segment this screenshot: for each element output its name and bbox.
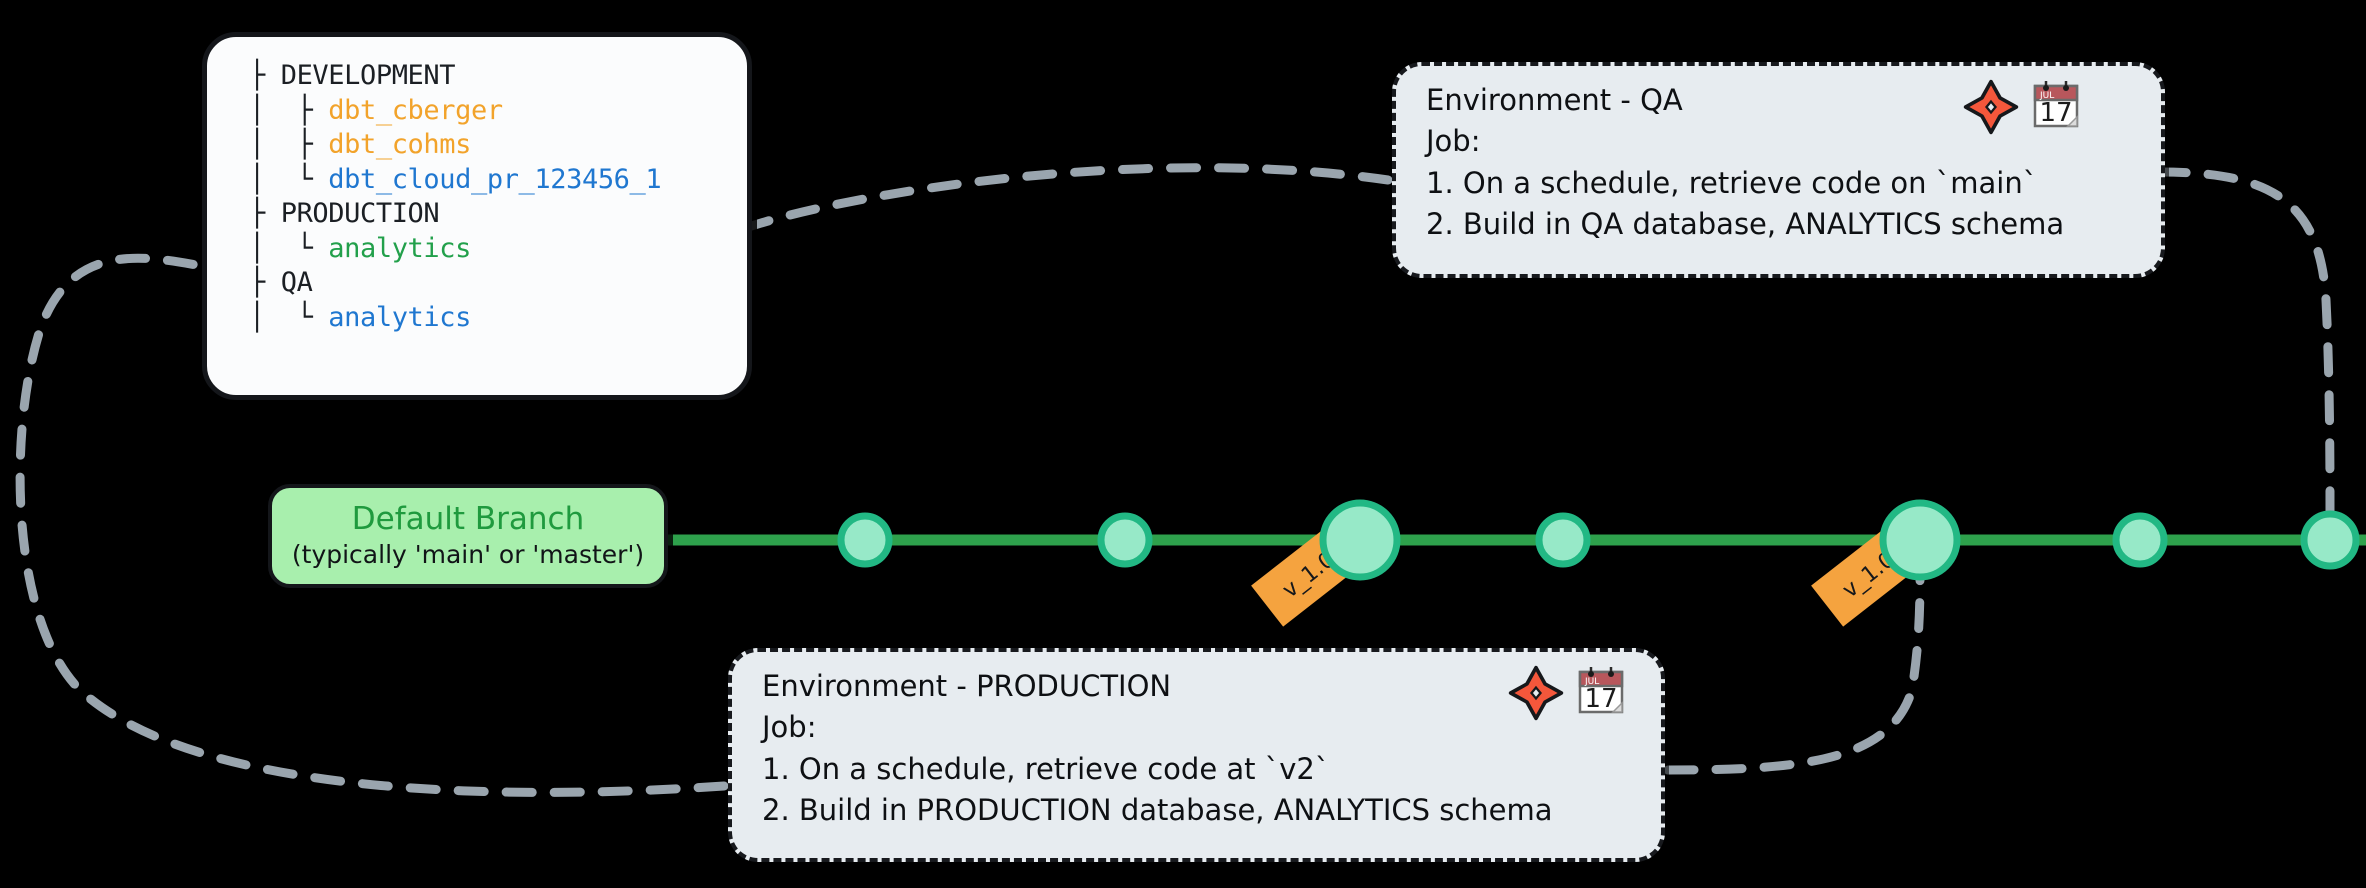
tree-line-list: ├ DEVELOPMENT│ ├ dbt_cberger│ ├ dbt_cohm… bbox=[207, 59, 747, 335]
git-commit-node[interactable] bbox=[841, 516, 889, 564]
tree-node-label: QA bbox=[281, 267, 313, 298]
tree-node-label: dbt_cloud_pr_123456_1 bbox=[328, 164, 661, 195]
calendar-icon: JUL 17 bbox=[1577, 664, 1625, 716]
tree-node-label: analytics bbox=[328, 233, 471, 264]
tree-node-label: dbt_cberger bbox=[328, 95, 502, 126]
tree-branch-glyph: │ └ bbox=[249, 302, 328, 333]
diagram-canvas: v_1.0v_1.0 ├ DEVELOPMENT│ ├ dbt_cberger│… bbox=[0, 0, 2366, 888]
git-commit-node[interactable] bbox=[2304, 514, 2356, 566]
tree-line: ├ PRODUCTION bbox=[249, 197, 747, 232]
tree-line: │ └ dbt_cloud_pr_123456_1 bbox=[249, 163, 747, 198]
calendar-day-label: 17 bbox=[1584, 684, 1617, 714]
default-branch-label: Default Branch (typically 'main' or 'mas… bbox=[268, 484, 668, 588]
tree-node-label: DEVELOPMENT bbox=[281, 60, 455, 91]
tree-line: ├ QA bbox=[249, 266, 747, 301]
note-line: 1. On a schedule, retrieve code at `v2` bbox=[762, 749, 1643, 790]
environment-note-production[interactable]: Environment - PRODUCTIONJob:1. On a sche… bbox=[728, 648, 1665, 862]
dbt-logo-icon bbox=[1962, 78, 2020, 136]
tree-branch-glyph: │ └ bbox=[249, 164, 328, 195]
dbt-logo-icon bbox=[1507, 664, 1565, 722]
note-qa-icons: JUL 17 bbox=[1962, 78, 2080, 136]
tree-branch-glyph: ├ bbox=[249, 267, 281, 298]
tree-line: │ ├ dbt_cberger bbox=[249, 94, 747, 129]
environment-note-qa[interactable]: Environment - QAJob:1. On a schedule, re… bbox=[1392, 62, 2165, 278]
calendar-icon: JUL 17 bbox=[2032, 78, 2080, 130]
tree-node-label: analytics bbox=[328, 302, 471, 333]
tree-node-label: dbt_cohms bbox=[328, 129, 471, 160]
git-commit-node-tagged[interactable] bbox=[1323, 503, 1397, 577]
tree-branch-glyph: │ ├ bbox=[249, 129, 328, 160]
note-line: 2. Build in QA database, ANALYTICS schem… bbox=[1426, 204, 2143, 245]
tree-line: ├ DEVELOPMENT bbox=[249, 59, 747, 94]
tree-branch-glyph: ├ bbox=[249, 198, 281, 229]
git-commit-node[interactable] bbox=[2116, 516, 2164, 564]
tree-line: │ └ analytics bbox=[249, 232, 747, 267]
environment-schema-tree: ├ DEVELOPMENT│ ├ dbt_cberger│ ├ dbt_cohm… bbox=[202, 32, 752, 400]
default-branch-subtitle: (typically 'main' or 'master') bbox=[292, 540, 644, 570]
note-production-icons: JUL 17 bbox=[1507, 664, 1625, 722]
git-commit-node-tagged[interactable] bbox=[1883, 503, 1957, 577]
tree-branch-glyph: │ ├ bbox=[249, 95, 328, 126]
tree-branch-glyph: │ └ bbox=[249, 233, 328, 264]
git-commit-node[interactable] bbox=[1539, 516, 1587, 564]
tree-branch-glyph: ├ bbox=[249, 60, 281, 91]
note-line: 2. Build in PRODUCTION database, ANALYTI… bbox=[762, 790, 1643, 831]
note-line: 1. On a schedule, retrieve code on `main… bbox=[1426, 163, 2143, 204]
tree-line: │ └ analytics bbox=[249, 301, 747, 336]
tree-line: │ ├ dbt_cohms bbox=[249, 128, 747, 163]
tree-node-label: PRODUCTION bbox=[281, 198, 440, 229]
git-commit-node[interactable] bbox=[1101, 516, 1149, 564]
default-branch-title: Default Branch bbox=[352, 502, 584, 537]
calendar-day-label: 17 bbox=[2039, 98, 2072, 128]
